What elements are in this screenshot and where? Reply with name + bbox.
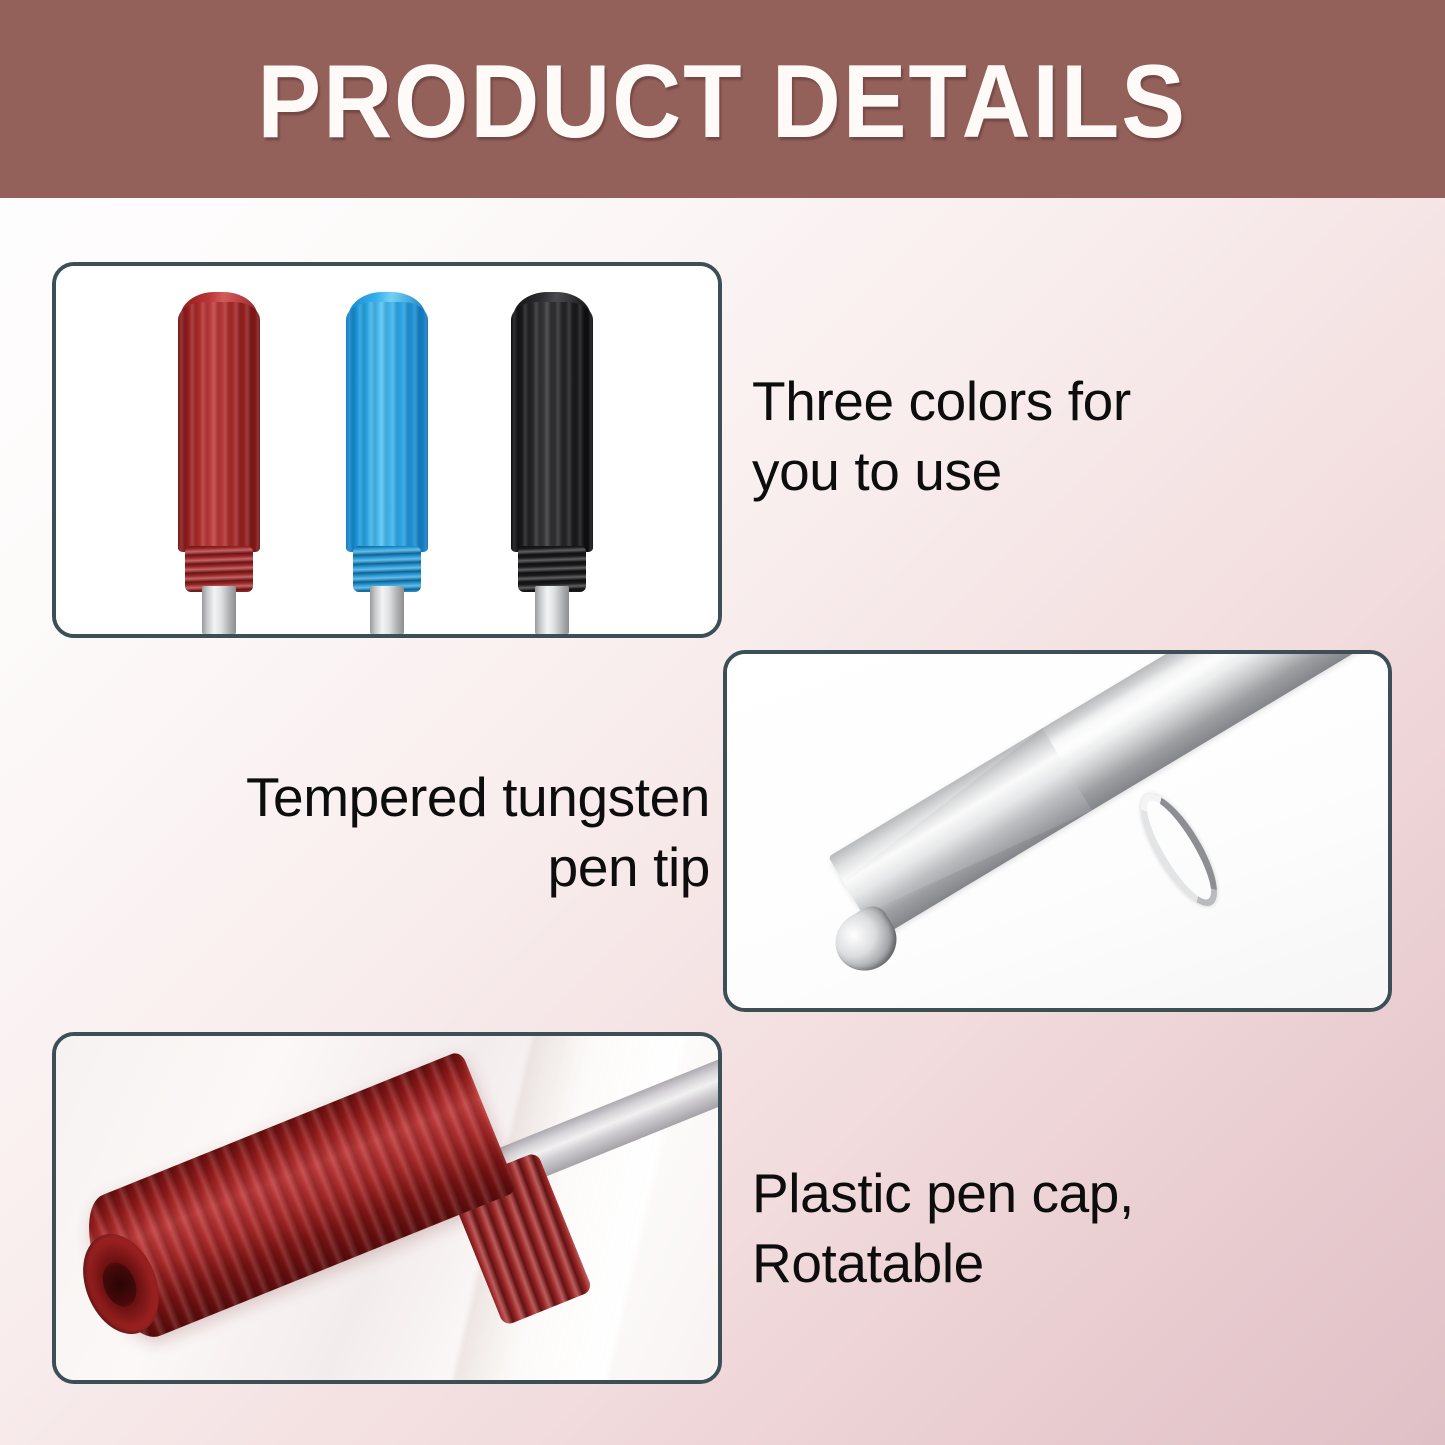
header-banner: PRODUCT DETAILS <box>0 0 1445 198</box>
blue-cap-shaft <box>370 586 404 634</box>
three-pen-caps-photo <box>56 266 718 634</box>
photo-panel-plastic-cap <box>52 1032 722 1384</box>
black-cap-body <box>511 302 593 552</box>
product-details-infographic: PRODUCT DETAILS Thre <box>0 0 1445 1445</box>
caption-three-colors: Three colors for you to use <box>752 366 1222 507</box>
tip-collar-ring <box>1127 784 1231 916</box>
blue-cap-body <box>346 302 428 552</box>
pen-shaft <box>828 650 1392 939</box>
photo-panel-tungsten-tip <box>723 650 1392 1012</box>
red-cap-body <box>178 302 260 552</box>
caption-tungsten-tip: Tempered tungsten pen tip <box>168 762 710 903</box>
tungsten-pen-tip-photo <box>727 654 1388 1008</box>
caption-plastic-cap: Plastic pen cap, Rotatable <box>752 1158 1252 1299</box>
plastic-pen-cap-photo <box>56 1036 718 1380</box>
page-title: PRODUCT DETAILS <box>258 44 1187 154</box>
red-cap-shaft <box>202 586 236 634</box>
photo-panel-three-colors <box>52 262 722 638</box>
black-cap-shaft <box>535 586 569 634</box>
